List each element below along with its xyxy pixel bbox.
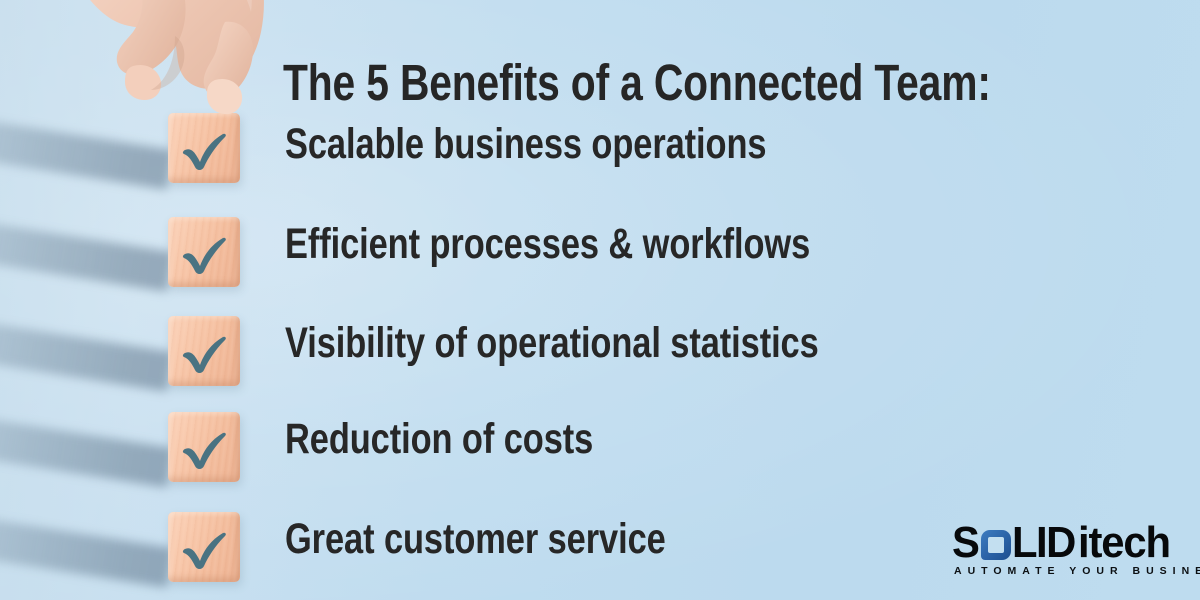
- soliditech-logo[interactable]: S LID itech AUTOMATE YOUR BUSINESS: [952, 521, 1184, 585]
- checkmark-icon: [177, 124, 231, 172]
- benefit-item-2: Efficient processes & workflows: [285, 219, 810, 269]
- checkmark-icon: [177, 423, 231, 471]
- checkmark-icon: [177, 228, 231, 276]
- checkmark-icon: [177, 523, 231, 571]
- block-shadows: [0, 0, 300, 600]
- benefit-item-1: Scalable business operations: [285, 119, 766, 169]
- block-shadow-3: [0, 296, 173, 392]
- benefit-item-3: Visibility of operational statistics: [285, 318, 819, 368]
- block-shadow-2: [0, 196, 173, 292]
- logo-wordmark: S LID itech: [952, 521, 1175, 563]
- benefit-item-4: Reduction of costs: [285, 414, 593, 464]
- logo-letter-s: S: [952, 521, 978, 565]
- checkmark-icon: [177, 327, 231, 375]
- check-block-1: [168, 113, 240, 183]
- block-shadow-1: [0, 94, 173, 190]
- benefit-item-5: Great customer service: [285, 514, 666, 564]
- block-shadow-5: [0, 492, 173, 588]
- check-block-4: [168, 412, 240, 482]
- check-block-3: [168, 316, 240, 386]
- check-block-5: [168, 512, 240, 582]
- logo-letters-lid: LID: [1012, 521, 1075, 565]
- logo-tagline: AUTOMATE YOUR BUSINESS: [954, 565, 1200, 577]
- logo-letters-itech: itech: [1078, 521, 1170, 565]
- logo-o-icon: [981, 530, 1011, 560]
- page-title: The 5 Benefits of a Connected Team:: [283, 52, 991, 114]
- check-block-2: [168, 217, 240, 287]
- block-shadow-4: [0, 392, 173, 488]
- infographic-canvas: The 5 Benefits of a Connected Team: Scal…: [0, 0, 1200, 600]
